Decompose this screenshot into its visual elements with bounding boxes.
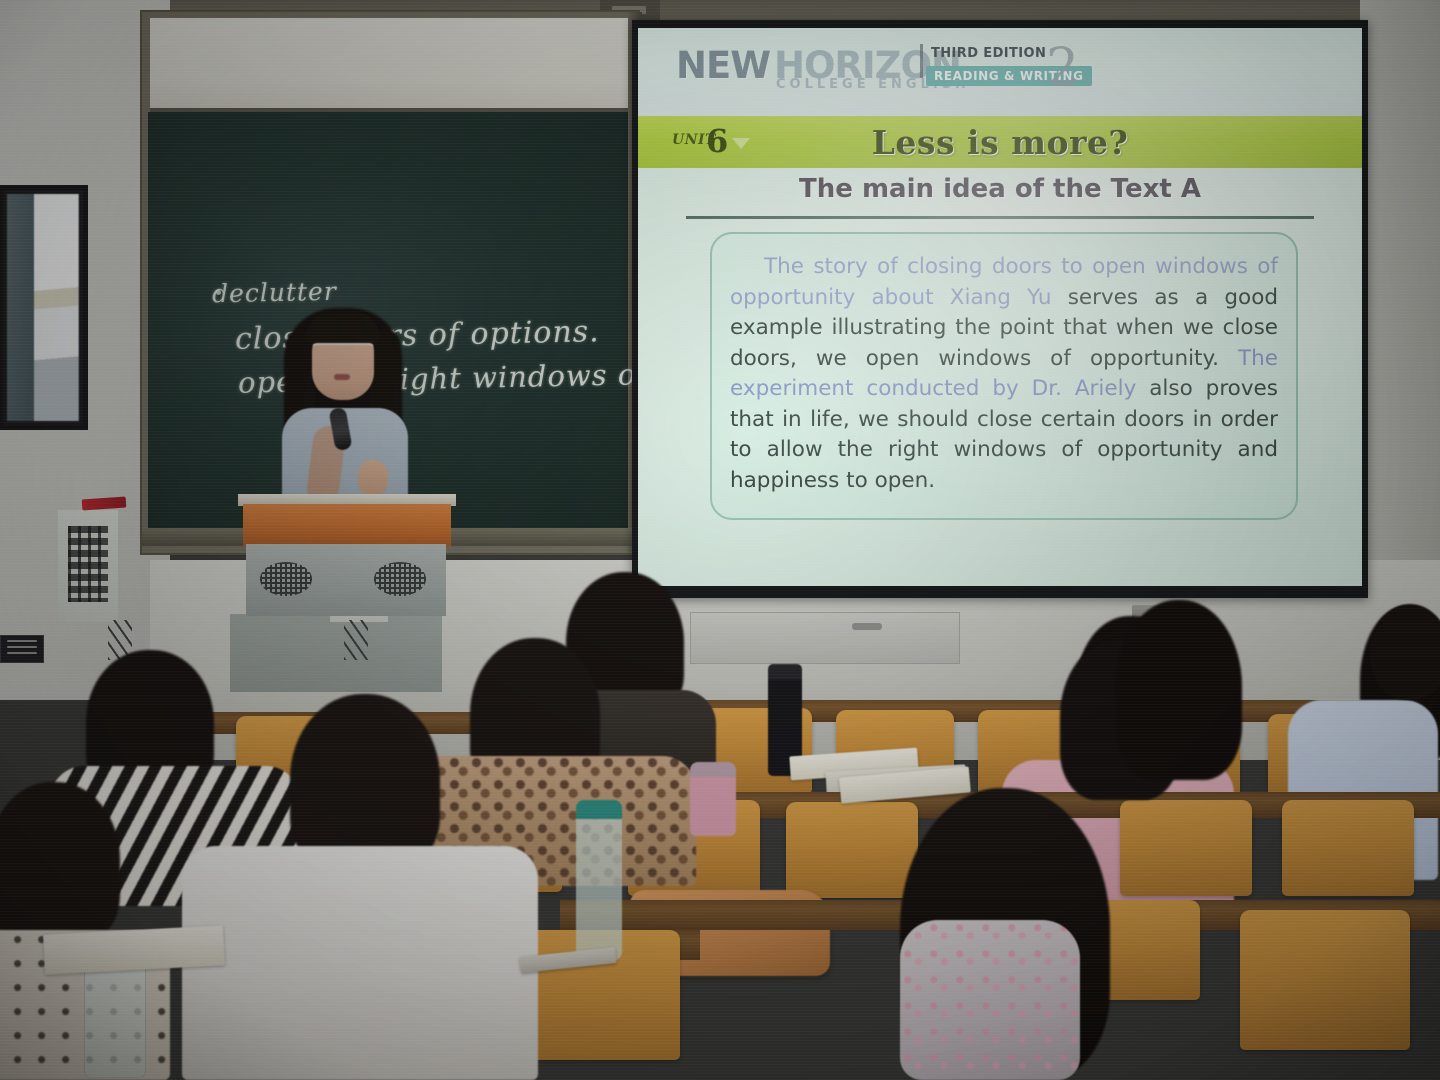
blackboard-upper-panel xyxy=(150,18,632,112)
wall-cabinet-panel xyxy=(690,612,960,664)
textbook-logo: NEW HORIZON COLLEGE ENGLISH THIRD EDITIO… xyxy=(676,42,1096,100)
logo-edition: THIRD EDITION xyxy=(931,46,1046,61)
slide-header: NEW HORIZON COLLEGE ENGLISH THIRD EDITIO… xyxy=(638,28,1362,116)
lectern-vent-left xyxy=(68,526,108,602)
student-hair xyxy=(1116,600,1242,780)
classroom-photo: declutter close doors of options. open t… xyxy=(0,0,1440,1080)
logo-word-new: NEW xyxy=(676,44,770,87)
polka-dot-backpack xyxy=(900,920,1080,1080)
lectern-front-panel xyxy=(246,544,446,616)
glasses-icon xyxy=(313,343,373,356)
teacher-fringe xyxy=(306,312,380,344)
framed-picture xyxy=(0,185,88,430)
slide-content-box: The story of closing doors to open windo… xyxy=(710,232,1298,520)
chair-front-2 xyxy=(1240,910,1410,1050)
speaker-grill-left xyxy=(260,562,312,596)
chair-middle-3 xyxy=(1120,800,1252,896)
slide-title: Less is more? xyxy=(638,123,1362,162)
student-torso xyxy=(182,846,538,1080)
lectern-red-label xyxy=(82,496,127,510)
lectern xyxy=(58,480,458,680)
student-head xyxy=(1370,604,1440,700)
wall-plaque xyxy=(0,635,44,663)
subtitle-divider xyxy=(686,216,1314,219)
teacher-mouth xyxy=(334,374,350,380)
green-water-bottle xyxy=(576,800,622,960)
presentation-slide: NEW HORIZON COLLEGE ENGLISH THIRD EDITIO… xyxy=(638,28,1362,586)
lectern-base xyxy=(230,614,442,692)
chair-middle-4 xyxy=(1282,800,1414,896)
projection-screen: NEW HORIZON COLLEGE ENGLISH THIRD EDITIO… xyxy=(632,20,1368,598)
lectern-slot-right xyxy=(344,620,368,660)
speaker-grill-right xyxy=(374,562,426,596)
logo-volume-number: 2 xyxy=(1046,38,1079,98)
pink-water-bottle xyxy=(690,762,736,836)
glass-tea-jar xyxy=(84,960,146,1078)
chair-middle-2 xyxy=(786,802,918,898)
lectern-wood-band xyxy=(243,504,451,546)
picture-artwork xyxy=(7,194,79,421)
student-hair xyxy=(290,694,440,870)
slide-subtitle: The main idea of the Text A xyxy=(638,174,1362,204)
chalk-bullet xyxy=(216,290,221,295)
logo-divider xyxy=(920,44,923,78)
lectern-side-left xyxy=(58,510,118,622)
slide-title-bar: UNIT 6 Less is more? xyxy=(638,116,1362,168)
cabinet-handle-icon xyxy=(852,623,882,630)
student-hair xyxy=(0,782,120,944)
slide-paragraph: The story of closing doors to open windo… xyxy=(730,252,1278,496)
